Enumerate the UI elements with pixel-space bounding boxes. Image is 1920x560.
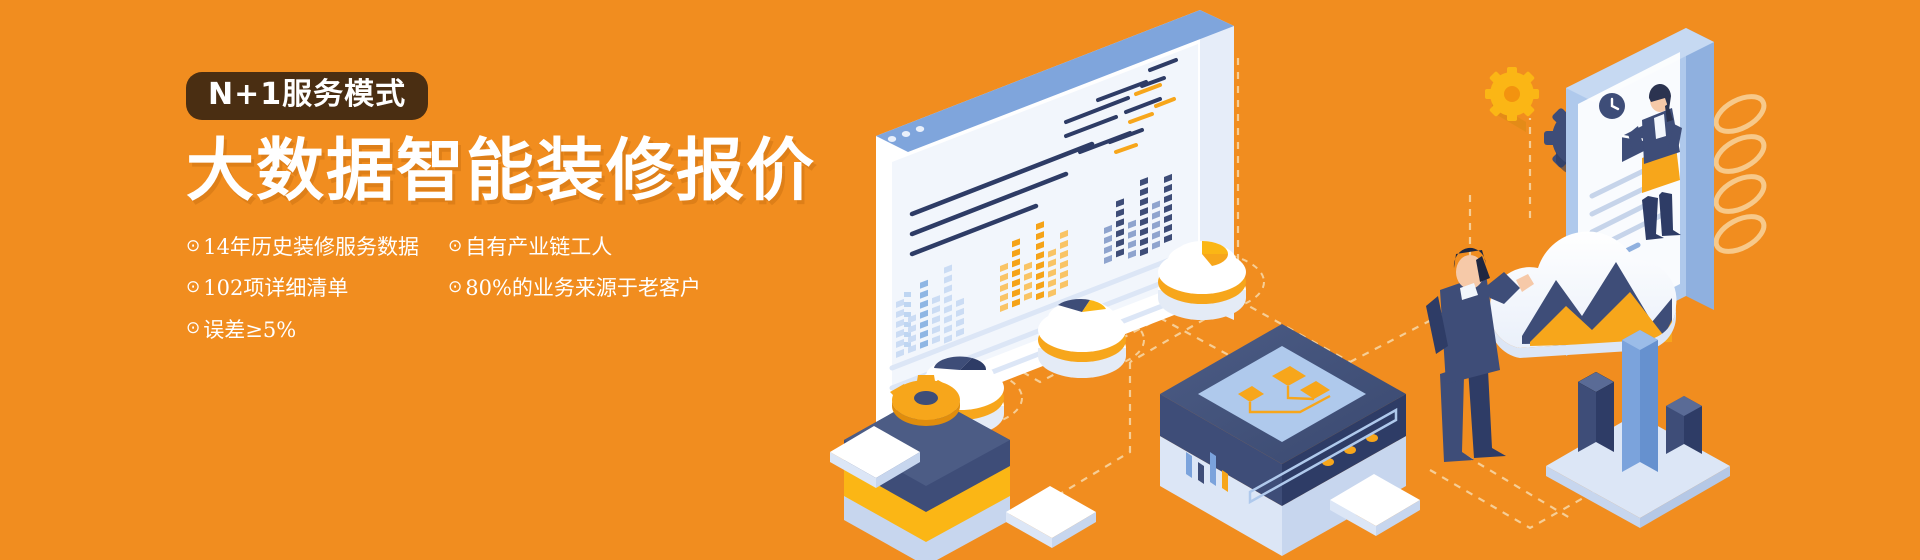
- feature-row: ⊙ 102项详细清单 ⊙ 80%的业务来源于老客户: [186, 274, 746, 302]
- bullet-marker-icon: ⊙: [448, 276, 462, 299]
- bar: [1578, 372, 1614, 452]
- list-item: ⊙ 102项详细清单: [186, 274, 448, 302]
- isometric-illustration: [830, 0, 1920, 560]
- list-item: ⊙ 14年历史装修服务数据: [186, 233, 448, 261]
- gear-icon-yellow: [1485, 67, 1539, 132]
- service-mode-badge: N+1服务模式: [186, 72, 428, 120]
- hero-banner: N+1服务模式 大数据智能装修报价 ⊙ 14年历史装修服务数据 ⊙ 自有产业链工…: [0, 0, 1920, 560]
- list-item-label: 80%的业务来源于老客户: [465, 274, 701, 302]
- list-item-label: 误差≥5%: [203, 316, 296, 344]
- list-item-label: 自有产业链工人: [465, 233, 612, 261]
- list-item-label: 102项详细清单: [203, 274, 348, 302]
- feature-list: ⊙ 14年历史装修服务数据 ⊙ 自有产业链工人 ⊙ 102项详细清单 ⊙ 80%…: [186, 233, 746, 344]
- clock-icon: [1599, 93, 1625, 119]
- list-item: ⊙ 自有产业链工人: [448, 233, 728, 261]
- list-item: ⊙ 80%的业务来源于老客户: [448, 274, 728, 302]
- bullet-marker-icon: ⊙: [186, 317, 200, 340]
- copy-block: N+1服务模式 大数据智能装修报价 ⊙ 14年历史装修服务数据 ⊙ 自有产业链工…: [186, 72, 886, 472]
- floating-plate: [1006, 486, 1096, 548]
- bar: [1622, 330, 1658, 472]
- list-item: ⊙ 误差≥5%: [186, 316, 448, 344]
- feature-row: ⊙ 14年历史装修服务数据 ⊙ 自有产业链工人: [186, 233, 746, 261]
- page-title: 大数据智能装修报价: [186, 136, 886, 207]
- bullet-marker-icon: ⊙: [186, 276, 200, 299]
- ring-stack-icon: [1710, 89, 1769, 258]
- bullet-marker-icon: ⊙: [186, 235, 200, 258]
- list-item-label: 14年历史装修服务数据: [203, 233, 419, 261]
- bar-chart-3d: [1546, 330, 1730, 528]
- bullet-marker-icon: ⊙: [448, 235, 462, 258]
- feature-row: ⊙ 误差≥5%: [186, 316, 746, 344]
